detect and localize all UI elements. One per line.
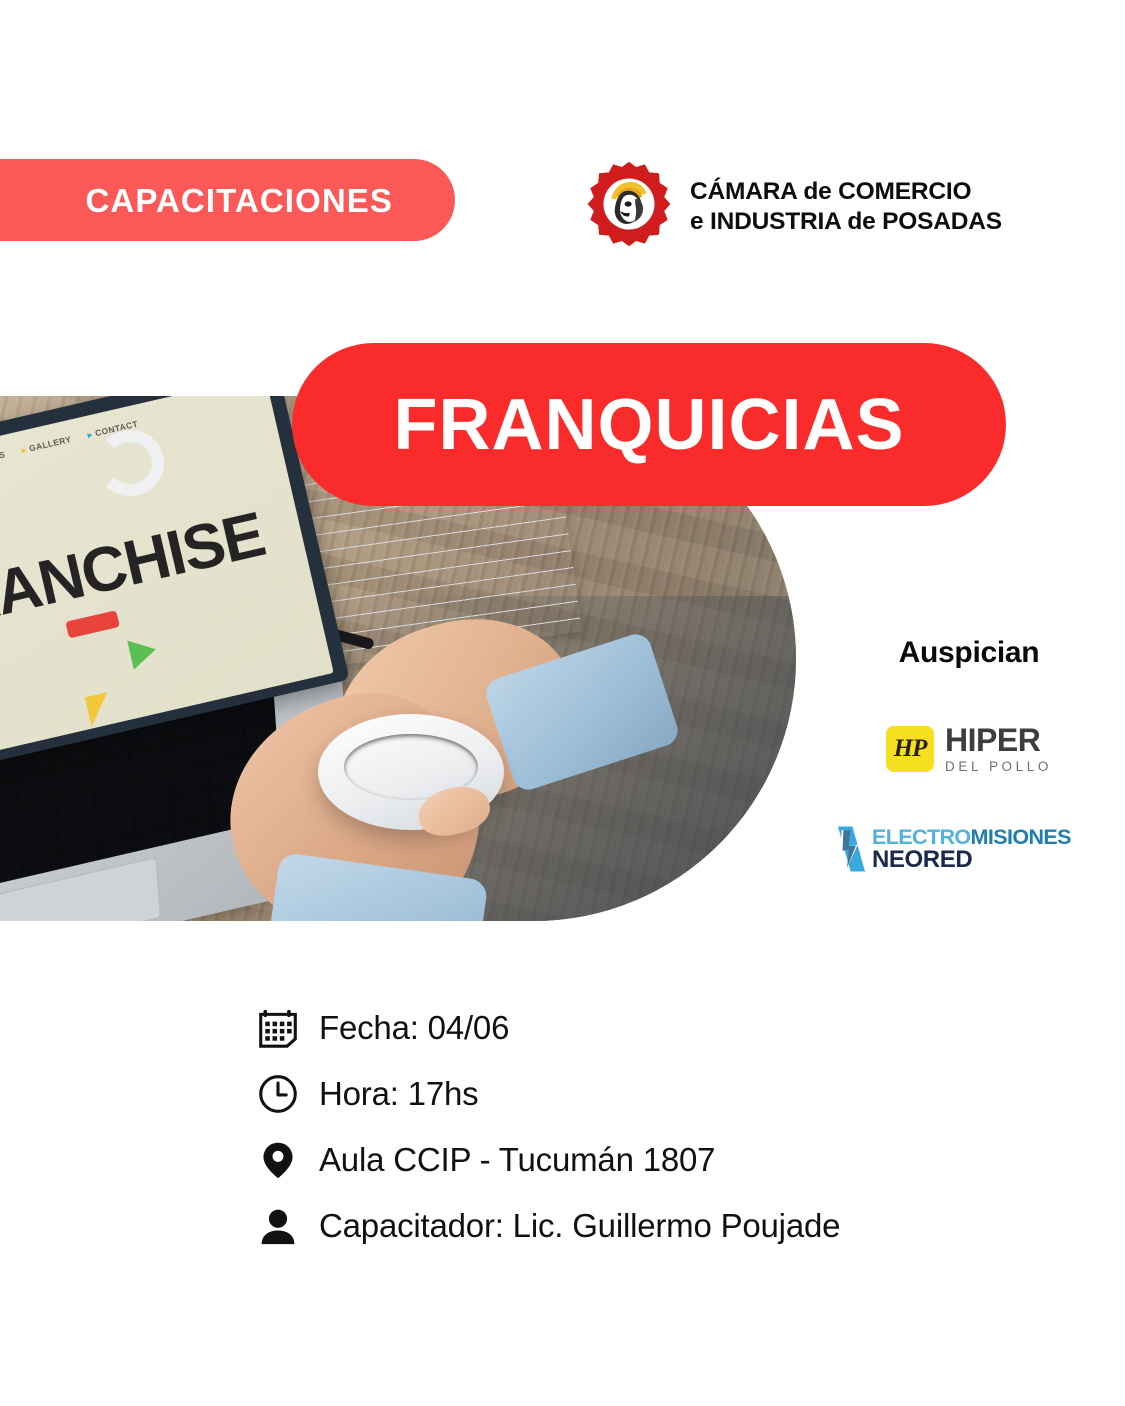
detail-row-time: Hora: 17hs (255, 1061, 1015, 1127)
neored-line: NEORED (872, 848, 1071, 873)
calendar-icon (255, 1008, 301, 1048)
ccip-brand: CÁMARA de COMERCIO e INDUSTRIA de POSADA… (585, 160, 1002, 248)
electromisiones-wordmark: ELECTROMISIONES NEORED (872, 826, 1071, 873)
detail-row-instructor: Capacitador: Lic. Guillermo Poujade (255, 1193, 1015, 1259)
hiper-hp-mark-icon: HP (886, 726, 934, 772)
sponsor-logo-hiper: HP HIPER DEL POLLO (838, 724, 1100, 774)
sponsors-heading: Auspician (838, 636, 1100, 670)
electromisiones-line-1: ELECTROMISIONES (872, 826, 1071, 848)
capacitaciones-badge-label: CAPACITACIONES (85, 184, 393, 217)
laptop-nav-item-about: ABOUT US (0, 449, 6, 472)
page-title: FRANQUICIAS (394, 389, 905, 461)
detail-text-time: Hora: 17hs (319, 1075, 478, 1113)
capacitaciones-badge: CAPACITACIONES (0, 159, 455, 241)
detail-text-location: Aula CCIP - Tucumán 1807 (319, 1141, 715, 1179)
laptop-headline: FRANCHISE (0, 498, 271, 648)
poster-canvas: CAPACITACIONES CÁMARA de COMERCIO (0, 0, 1125, 1406)
hiper-wordmark: HIPER DEL POLLO (945, 724, 1052, 774)
location-pin-icon (255, 1140, 301, 1180)
coffee-mug-handle (96, 430, 164, 496)
hiper-tagline: DEL POLLO (945, 760, 1052, 774)
sponsors-section: Auspician HP HIPER DEL POLLO ELECTROMISI… (838, 636, 1100, 873)
event-details-list: Fecha: 04/06 Hora: 17hs Aula CCIP - Tucu… (255, 995, 1015, 1259)
lightning-bolt-icon (838, 826, 865, 872)
ccip-brand-text: CÁMARA de COMERCIO e INDUSTRIA de POSADA… (690, 172, 1002, 236)
sponsor-logo-electromisiones: ELECTROMISIONES NEORED (838, 826, 1100, 873)
misiones-part: MISIONES (971, 825, 1071, 849)
detail-row-location: Aula CCIP - Tucumán 1807 (255, 1127, 1015, 1193)
franquicias-title-pill: FRANQUICIAS (292, 343, 1006, 506)
detail-row-date: Fecha: 04/06 (255, 995, 1015, 1061)
laptop-nav-item-gallery: GALLERY (21, 434, 73, 456)
hiper-name: HIPER (945, 724, 1052, 756)
detail-text-instructor: Capacitador: Lic. Guillermo Poujade (319, 1207, 840, 1245)
laptop-green-triangle (127, 635, 159, 670)
ccip-gear-emblem-icon (585, 160, 673, 248)
laptop-cta-button (65, 610, 119, 638)
clock-icon (255, 1074, 301, 1114)
electro-part: ELECTRO (872, 825, 971, 849)
laptop-yellow-triangle (85, 692, 114, 726)
detail-text-date: Fecha: 04/06 (319, 1009, 509, 1047)
ccip-brand-line-2: e INDUSTRIA de POSADAS (690, 208, 1002, 236)
ccip-brand-line-1: CÁMARA de COMERCIO (690, 178, 1002, 206)
person-icon (255, 1206, 301, 1246)
